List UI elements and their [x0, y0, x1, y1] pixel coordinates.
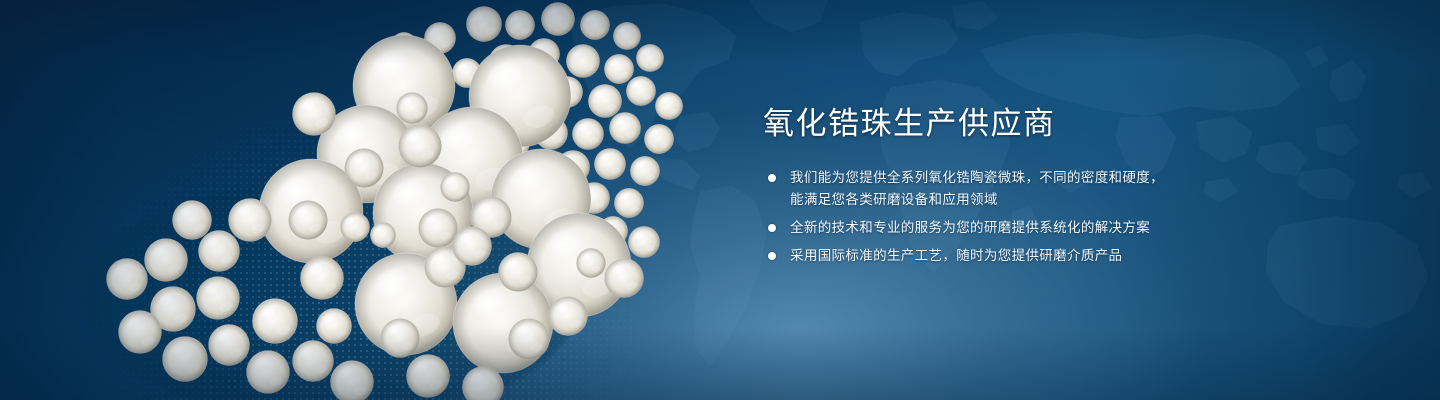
list-item-line-1: 我们能为您提供全系列氧化锆陶瓷微珠，不同的密度和硬度，	[790, 167, 1233, 189]
page-title: 氧化锆珠生产供应商	[763, 104, 1233, 144]
bullet-dot-icon	[768, 174, 776, 182]
list-item: 全新的技术和专业的服务为您的研磨提供系统化的解决方案	[763, 217, 1233, 239]
feature-list: 我们能为您提供全系列氧化锆陶瓷微珠，不同的密度和硬度， 能满足您各类研磨设备和应…	[763, 167, 1233, 267]
list-item-line-1: 全新的技术和专业的服务为您的研磨提供系统化的解决方案	[790, 217, 1233, 239]
list-item-line-1: 采用国际标准的生产工艺，随时为您提供研磨介质产品	[790, 245, 1233, 267]
banner-copy: 氧化锆珠生产供应商 我们能为您提供全系列氧化锆陶瓷微珠，不同的密度和硬度， 能满…	[763, 104, 1233, 267]
list-item: 采用国际标准的生产工艺，随时为您提供研磨介质产品	[763, 245, 1233, 267]
bullet-dot-icon	[768, 252, 776, 260]
bullet-dot-icon	[768, 224, 776, 232]
list-item-line-2: 能满足您各类研磨设备和应用领域	[790, 189, 1233, 211]
hero-banner: 氧化锆珠生产供应商 我们能为您提供全系列氧化锆陶瓷微珠，不同的密度和硬度， 能满…	[0, 0, 1440, 400]
list-item: 我们能为您提供全系列氧化锆陶瓷微珠，不同的密度和硬度， 能满足您各类研磨设备和应…	[763, 167, 1233, 211]
